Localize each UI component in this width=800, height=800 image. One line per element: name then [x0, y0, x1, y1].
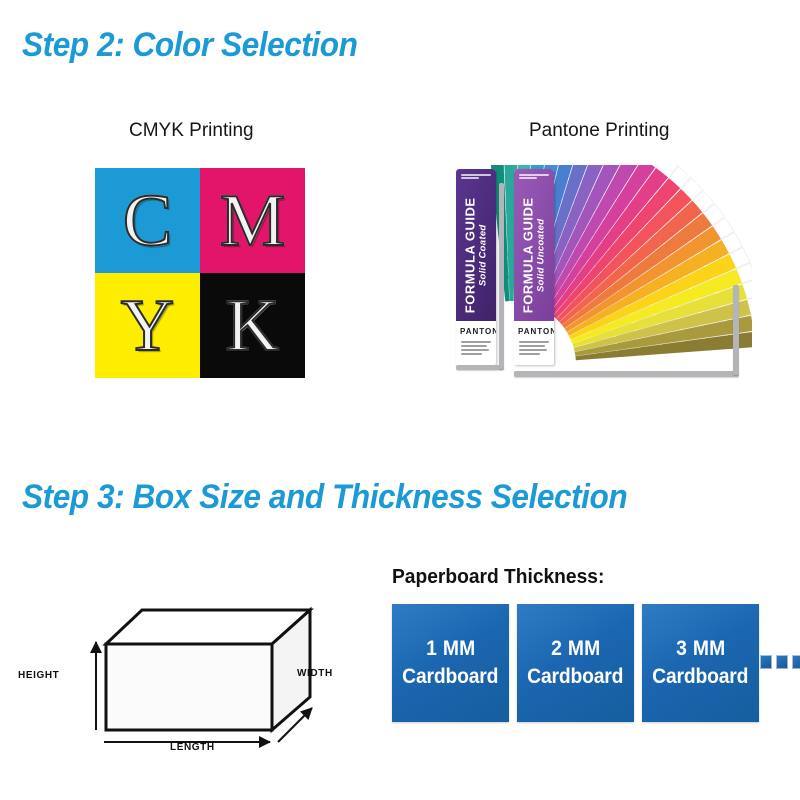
guide-title-coated: FORMULA GUIDE — [464, 197, 478, 313]
fan-color-swatch[interactable] — [728, 332, 752, 349]
guide-title-wrap-uncoated: FORMULA GUIDE Solid Uncoated — [514, 193, 554, 317]
guide-top-text-uncoated — [519, 174, 549, 186]
box-height-label: HEIGHT — [18, 670, 59, 681]
cmyk-letter-y: Y — [121, 289, 174, 363]
pantone-guide-solid-uncoated[interactable]: FORMULA GUIDE Solid Uncoated PANTONE — [514, 169, 554, 365]
pantone-fan-deck: FORMULA GUIDE Solid Coated PANTONE FORMU… — [452, 165, 752, 395]
pantone-printing-label: Pantone Printing — [529, 120, 670, 142]
guide-stand-left-post — [499, 183, 504, 369]
thickness-material-2mm: Cardboard — [527, 665, 623, 689]
cmyk-printing-label: CMYK Printing — [129, 120, 254, 142]
guide-stand-right — [514, 371, 739, 377]
cmyk-letter-c: C — [123, 184, 172, 258]
pantone-brand-coated: PANTONE — [460, 327, 496, 336]
box-length-label: LENGTH — [170, 742, 215, 753]
pantone-brand-uncoated: PANTONE — [518, 327, 554, 336]
guide-cover-coated: FORMULA GUIDE Solid Coated — [456, 169, 496, 321]
paperboard-thickness-title: Paperboard Thickness: — [392, 566, 604, 589]
thickness-value-1mm: 1 MM — [426, 637, 475, 661]
more-dot-2 — [776, 655, 788, 669]
more-thickness-options-indicator[interactable] — [760, 655, 800, 669]
more-dot-3 — [792, 655, 800, 669]
box-width-label: WIDTH — [297, 668, 333, 679]
box-front-face — [106, 644, 272, 730]
guide-cover-uncoated: FORMULA GUIDE Solid Uncoated — [514, 169, 554, 321]
guide-stand-right-post — [733, 285, 739, 375]
step2-heading: Step 2: Color Selection — [22, 26, 357, 65]
guide-stand-left — [456, 365, 504, 370]
guide-footnotes-coated — [461, 341, 491, 355]
guide-subtitle-uncoated: Solid Uncoated — [535, 197, 546, 313]
pantone-swatch-fan — [452, 165, 752, 395]
cmyk-letter-m: M — [220, 184, 286, 258]
guide-title-uncoated: FORMULA GUIDE — [522, 197, 536, 313]
paperboard-thickness-options: 1 MM Cardboard 2 MM Cardboard 3 MM Cardb… — [392, 604, 759, 722]
thickness-value-3mm: 3 MM — [676, 637, 725, 661]
thickness-material-1mm: Cardboard — [402, 665, 498, 689]
cmyk-quadrant-black: K — [200, 273, 305, 378]
step3-heading: Step 3: Box Size and Thickness Selection — [22, 478, 627, 517]
thickness-option-2mm[interactable]: 2 MM Cardboard — [517, 604, 634, 722]
guide-subtitle-coated: Solid Coated — [477, 197, 488, 313]
thickness-option-1mm[interactable]: 1 MM Cardboard — [392, 604, 509, 722]
thickness-value-2mm: 2 MM — [551, 637, 600, 661]
cmyk-quadrant-cyan: C — [95, 168, 200, 273]
thickness-material-3mm: Cardboard — [652, 665, 748, 689]
guide-top-text-coated — [461, 174, 491, 186]
cmyk-color-block: C M Y K — [95, 168, 305, 378]
cmyk-letter-k: K — [226, 289, 279, 363]
pantone-guide-solid-coated[interactable]: FORMULA GUIDE Solid Coated PANTONE — [456, 169, 496, 365]
more-dot-1 — [760, 655, 772, 669]
guide-title-wrap-coated: FORMULA GUIDE Solid Coated — [456, 193, 496, 317]
cmyk-quadrant-magenta: M — [200, 168, 305, 273]
thickness-option-3mm[interactable]: 3 MM Cardboard — [642, 604, 759, 722]
cmyk-quadrant-yellow: Y — [95, 273, 200, 378]
guide-footnotes-uncoated — [519, 341, 549, 355]
